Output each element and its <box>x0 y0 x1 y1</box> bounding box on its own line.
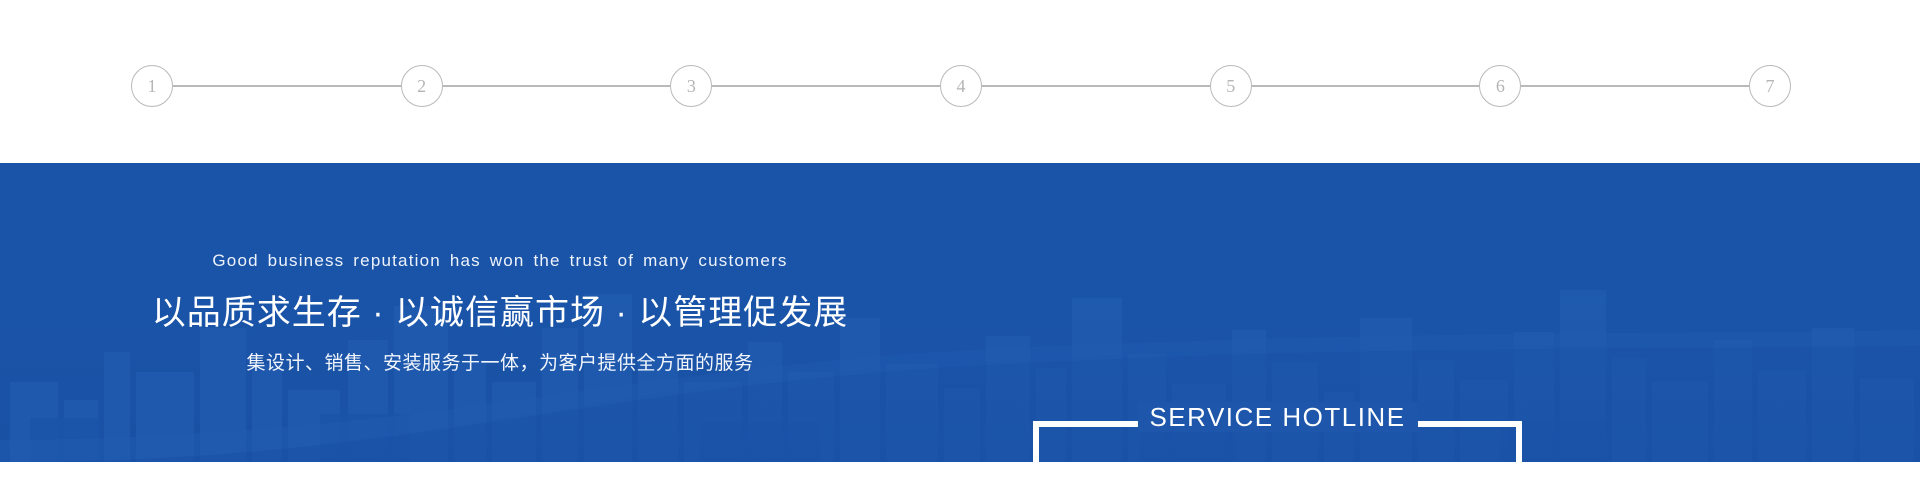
slogan-chinese-sub: 集设计、销售、安装服务于一体，为客户提供全方面的服务 <box>246 348 753 375</box>
hotline-primary-number[interactable]: 183-2660-0068 <box>1188 455 1371 463</box>
step-node-1[interactable]: 1 <box>131 65 173 107</box>
hotline-title: SERVICE HOTLINE <box>1137 402 1417 432</box>
step-node-4[interactable]: 4 <box>940 65 982 107</box>
step-connector-5-6 <box>1252 85 1480 87</box>
step-number-label: 6 <box>1496 77 1505 95</box>
slogan-chinese-main: 以品质求生存 · 以诚信赢市场 · 以管理促发展 <box>152 285 848 334</box>
service-hotline-box: SERVICE HOTLINE 服务热线： 183-2660-0068 0551… <box>1033 421 1522 462</box>
step-node-2[interactable]: 2 <box>401 65 443 107</box>
slogan-block: Good business reputation has won the tru… <box>0 163 1000 462</box>
hotline-body: 服务热线： 183-2660-0068 0551-63749777 <box>1033 447 1522 462</box>
step-node-3[interactable]: 3 <box>670 65 712 107</box>
step-connector-3-4 <box>712 85 940 87</box>
blue-promo-banner: Good business reputation has won the tru… <box>0 163 1920 462</box>
slogan-english: Good business reputation has won the tru… <box>212 251 787 271</box>
step-connector-2-3 <box>443 85 671 87</box>
step-indicator-track: 1 2 3 4 5 6 7 <box>131 65 1791 107</box>
step-node-5[interactable]: 5 <box>1210 65 1252 107</box>
step-node-7[interactable]: 7 <box>1749 65 1791 107</box>
promo-banner-page: 1 2 3 4 5 6 7 <box>0 0 1920 500</box>
step-connector-6-7 <box>1521 85 1749 87</box>
step-indicator: 1 2 3 4 5 6 7 <box>0 0 1920 163</box>
step-connector-4-5 <box>982 85 1210 87</box>
step-number-label: 4 <box>957 77 966 95</box>
step-number-label: 7 <box>1766 77 1775 95</box>
step-number-label: 5 <box>1226 77 1235 95</box>
step-number-label: 2 <box>417 77 426 95</box>
step-number-label: 1 <box>148 77 157 95</box>
step-number-label: 3 <box>687 77 696 95</box>
step-connector-1-2 <box>173 85 401 87</box>
step-node-6[interactable]: 6 <box>1479 65 1521 107</box>
hotline-row-primary: 服务热线： 183-2660-0068 <box>1055 455 1522 463</box>
hotline-label: 服务热线： <box>1055 457 1178 463</box>
